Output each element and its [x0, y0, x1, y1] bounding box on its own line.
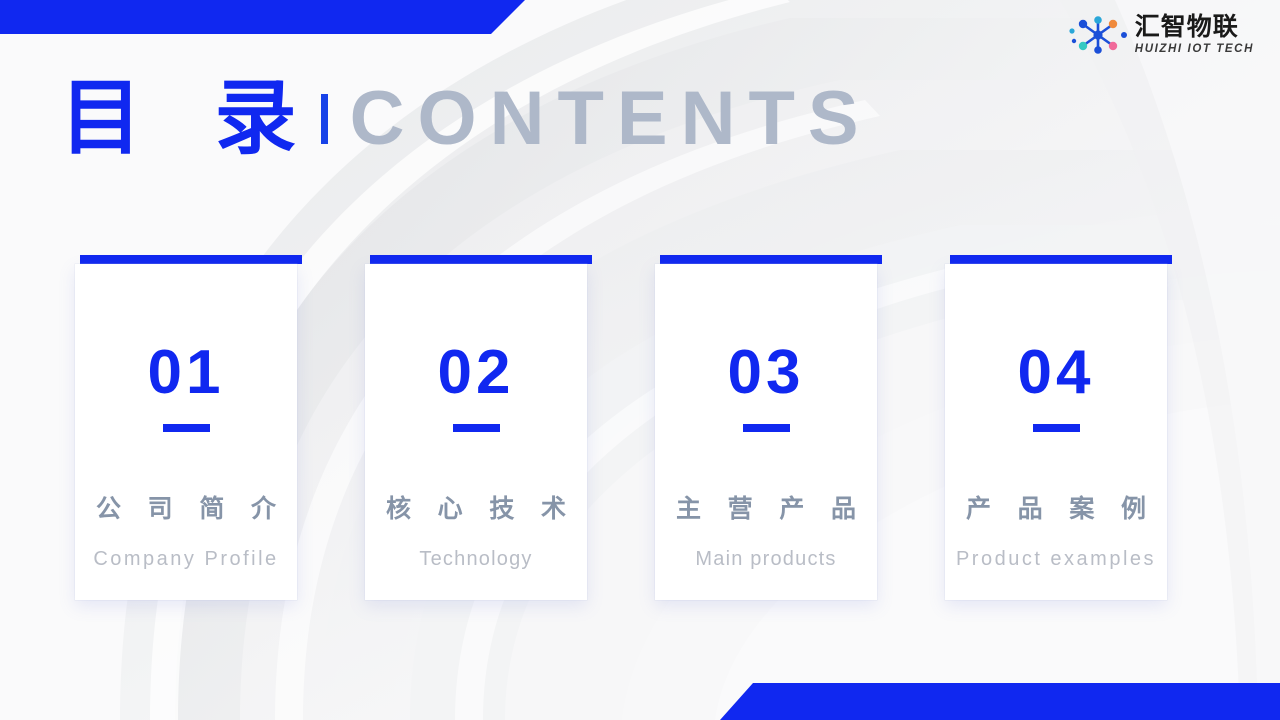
logo-company-name-en: HUIZHI IOT TECH — [1135, 44, 1254, 56]
card-label-cn: 核 心 技 术 — [377, 489, 575, 525]
card-number: 01 — [148, 342, 225, 404]
card-accent-bar — [370, 255, 592, 264]
card-label-en: Main products — [695, 545, 836, 573]
card-body[interactable]: 02 核 心 技 术 Technology — [365, 264, 587, 600]
top-left-blue-banner — [0, 0, 525, 34]
card-label-cn: 公 司 简 介 — [87, 489, 285, 525]
page-title-cn: 目 录 — [60, 78, 319, 160]
card-number: 04 — [1018, 342, 1095, 404]
huizhi-network-node-logo-icon — [1068, 15, 1128, 55]
company-logo: 汇智物联 HUIZHI IOT TECH — [1068, 15, 1254, 56]
card-underline-rule — [743, 424, 790, 432]
card-number: 03 — [728, 342, 805, 404]
contents-card-row: 01 公 司 简 介 Company Profile 02 核 心 技 术 Te… — [75, 255, 1172, 600]
contents-card-01[interactable]: 01 公 司 简 介 Company Profile — [75, 255, 302, 600]
card-label-en: Product examples — [956, 545, 1156, 573]
page-title: 目 录 CONTENTS — [60, 78, 872, 160]
card-label-cn: 产 品 案 例 — [957, 489, 1155, 525]
card-number: 02 — [438, 342, 515, 404]
contents-slide: 汇智物联 HUIZHI IOT TECH 目 录 CONTENTS 01 公 司… — [0, 0, 1280, 720]
title-divider-bar — [321, 94, 328, 144]
logo-company-name-cn: 汇智物联 — [1135, 15, 1254, 40]
card-underline-rule — [163, 424, 210, 432]
card-body[interactable]: 04 产 品 案 例 Product examples — [945, 264, 1167, 600]
card-underline-rule — [453, 424, 500, 432]
card-body[interactable]: 01 公 司 简 介 Company Profile — [75, 264, 297, 600]
contents-card-03[interactable]: 03 主 营 产 品 Main products — [655, 255, 882, 600]
card-accent-bar — [80, 255, 302, 264]
card-body[interactable]: 03 主 营 产 品 Main products — [655, 264, 877, 600]
contents-card-02[interactable]: 02 核 心 技 术 Technology — [365, 255, 592, 600]
page-title-en: CONTENTS — [350, 81, 872, 157]
card-accent-bar — [950, 255, 1172, 264]
contents-card-04[interactable]: 04 产 品 案 例 Product examples — [945, 255, 1172, 600]
card-accent-bar — [660, 255, 882, 264]
card-underline-rule — [1033, 424, 1080, 432]
card-label-cn: 主 营 产 品 — [667, 489, 865, 525]
card-label-en: Technology — [419, 545, 532, 573]
bottom-right-blue-banner — [720, 683, 1280, 720]
logo-text-block: 汇智物联 HUIZHI IOT TECH — [1135, 15, 1254, 56]
card-label-en: Company Profile — [93, 545, 278, 573]
